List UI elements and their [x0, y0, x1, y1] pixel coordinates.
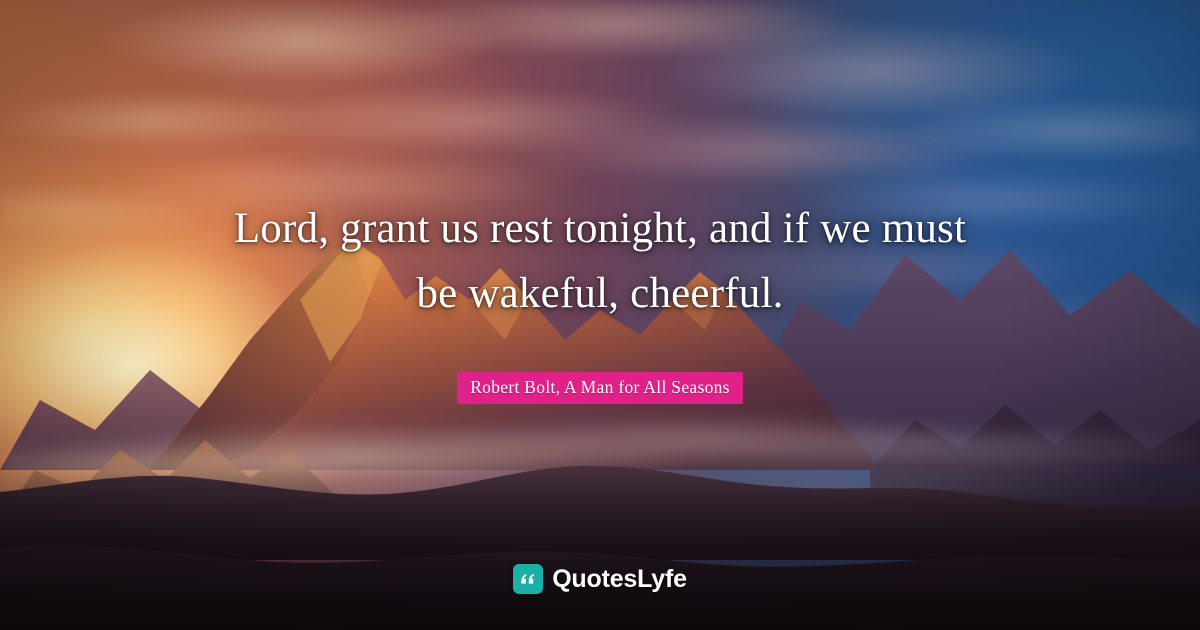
bottom-gradient-overlay [0, 460, 1200, 630]
quote-mark-icon [513, 564, 543, 594]
brand-logo[interactable]: QuotesLyfe [0, 564, 1200, 594]
quote-card: Lord, grant us rest tonight, and if we m… [0, 0, 1200, 630]
quote-line-1: Lord, grant us rest tonight, and if we m… [96, 196, 1104, 261]
attribution-block: Robert Bolt, A Man for All Seasons [0, 372, 1200, 404]
quote-line-2: be wakeful, cheerful. [96, 261, 1104, 326]
quote-block: Lord, grant us rest tonight, and if we m… [0, 196, 1200, 327]
attribution-badge: Robert Bolt, A Man for All Seasons [457, 372, 743, 404]
brand-name: QuotesLyfe [552, 565, 687, 594]
